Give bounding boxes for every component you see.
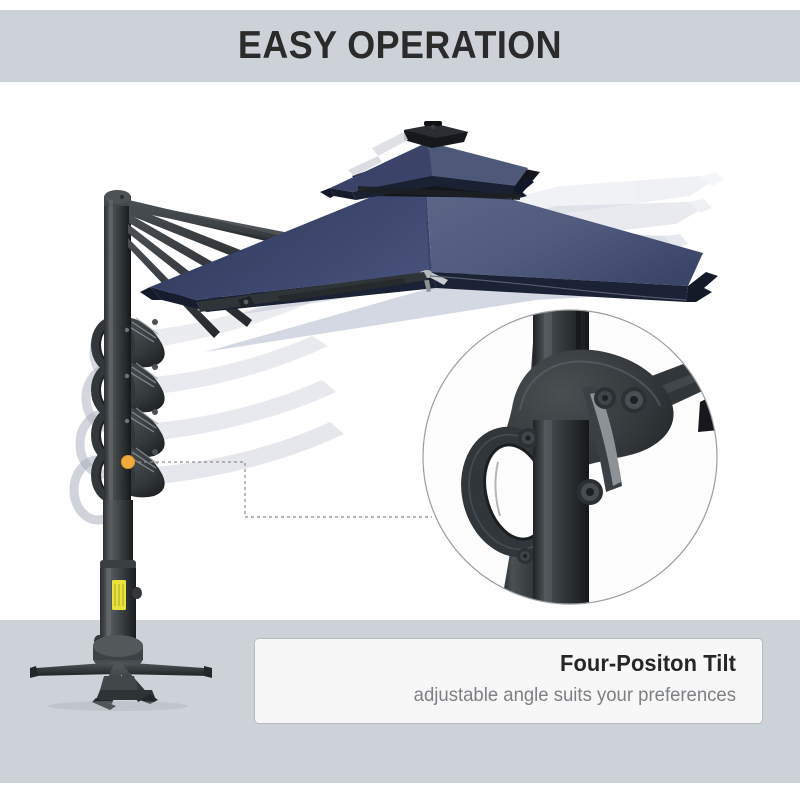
cross-base	[30, 635, 212, 711]
tilt-hinge-marker	[122, 456, 135, 469]
base-arm-left	[30, 662, 118, 676]
caption-title: Four-Positon Tilt	[279, 648, 736, 678]
caption-card: Four-Positon Tilt adjustable angle suits…	[254, 638, 763, 724]
tilt-mechanism-detail	[423, 300, 770, 612]
base-arm-right	[118, 662, 212, 676]
product-marketing-image: EASY OPERATION	[0, 0, 800, 800]
canopy-upper-tier	[320, 121, 540, 200]
caption-subtitle: adjustable angle suits your preferences	[279, 680, 736, 710]
tilt-position-hinges	[96, 310, 165, 500]
solar-finial	[404, 121, 468, 148]
